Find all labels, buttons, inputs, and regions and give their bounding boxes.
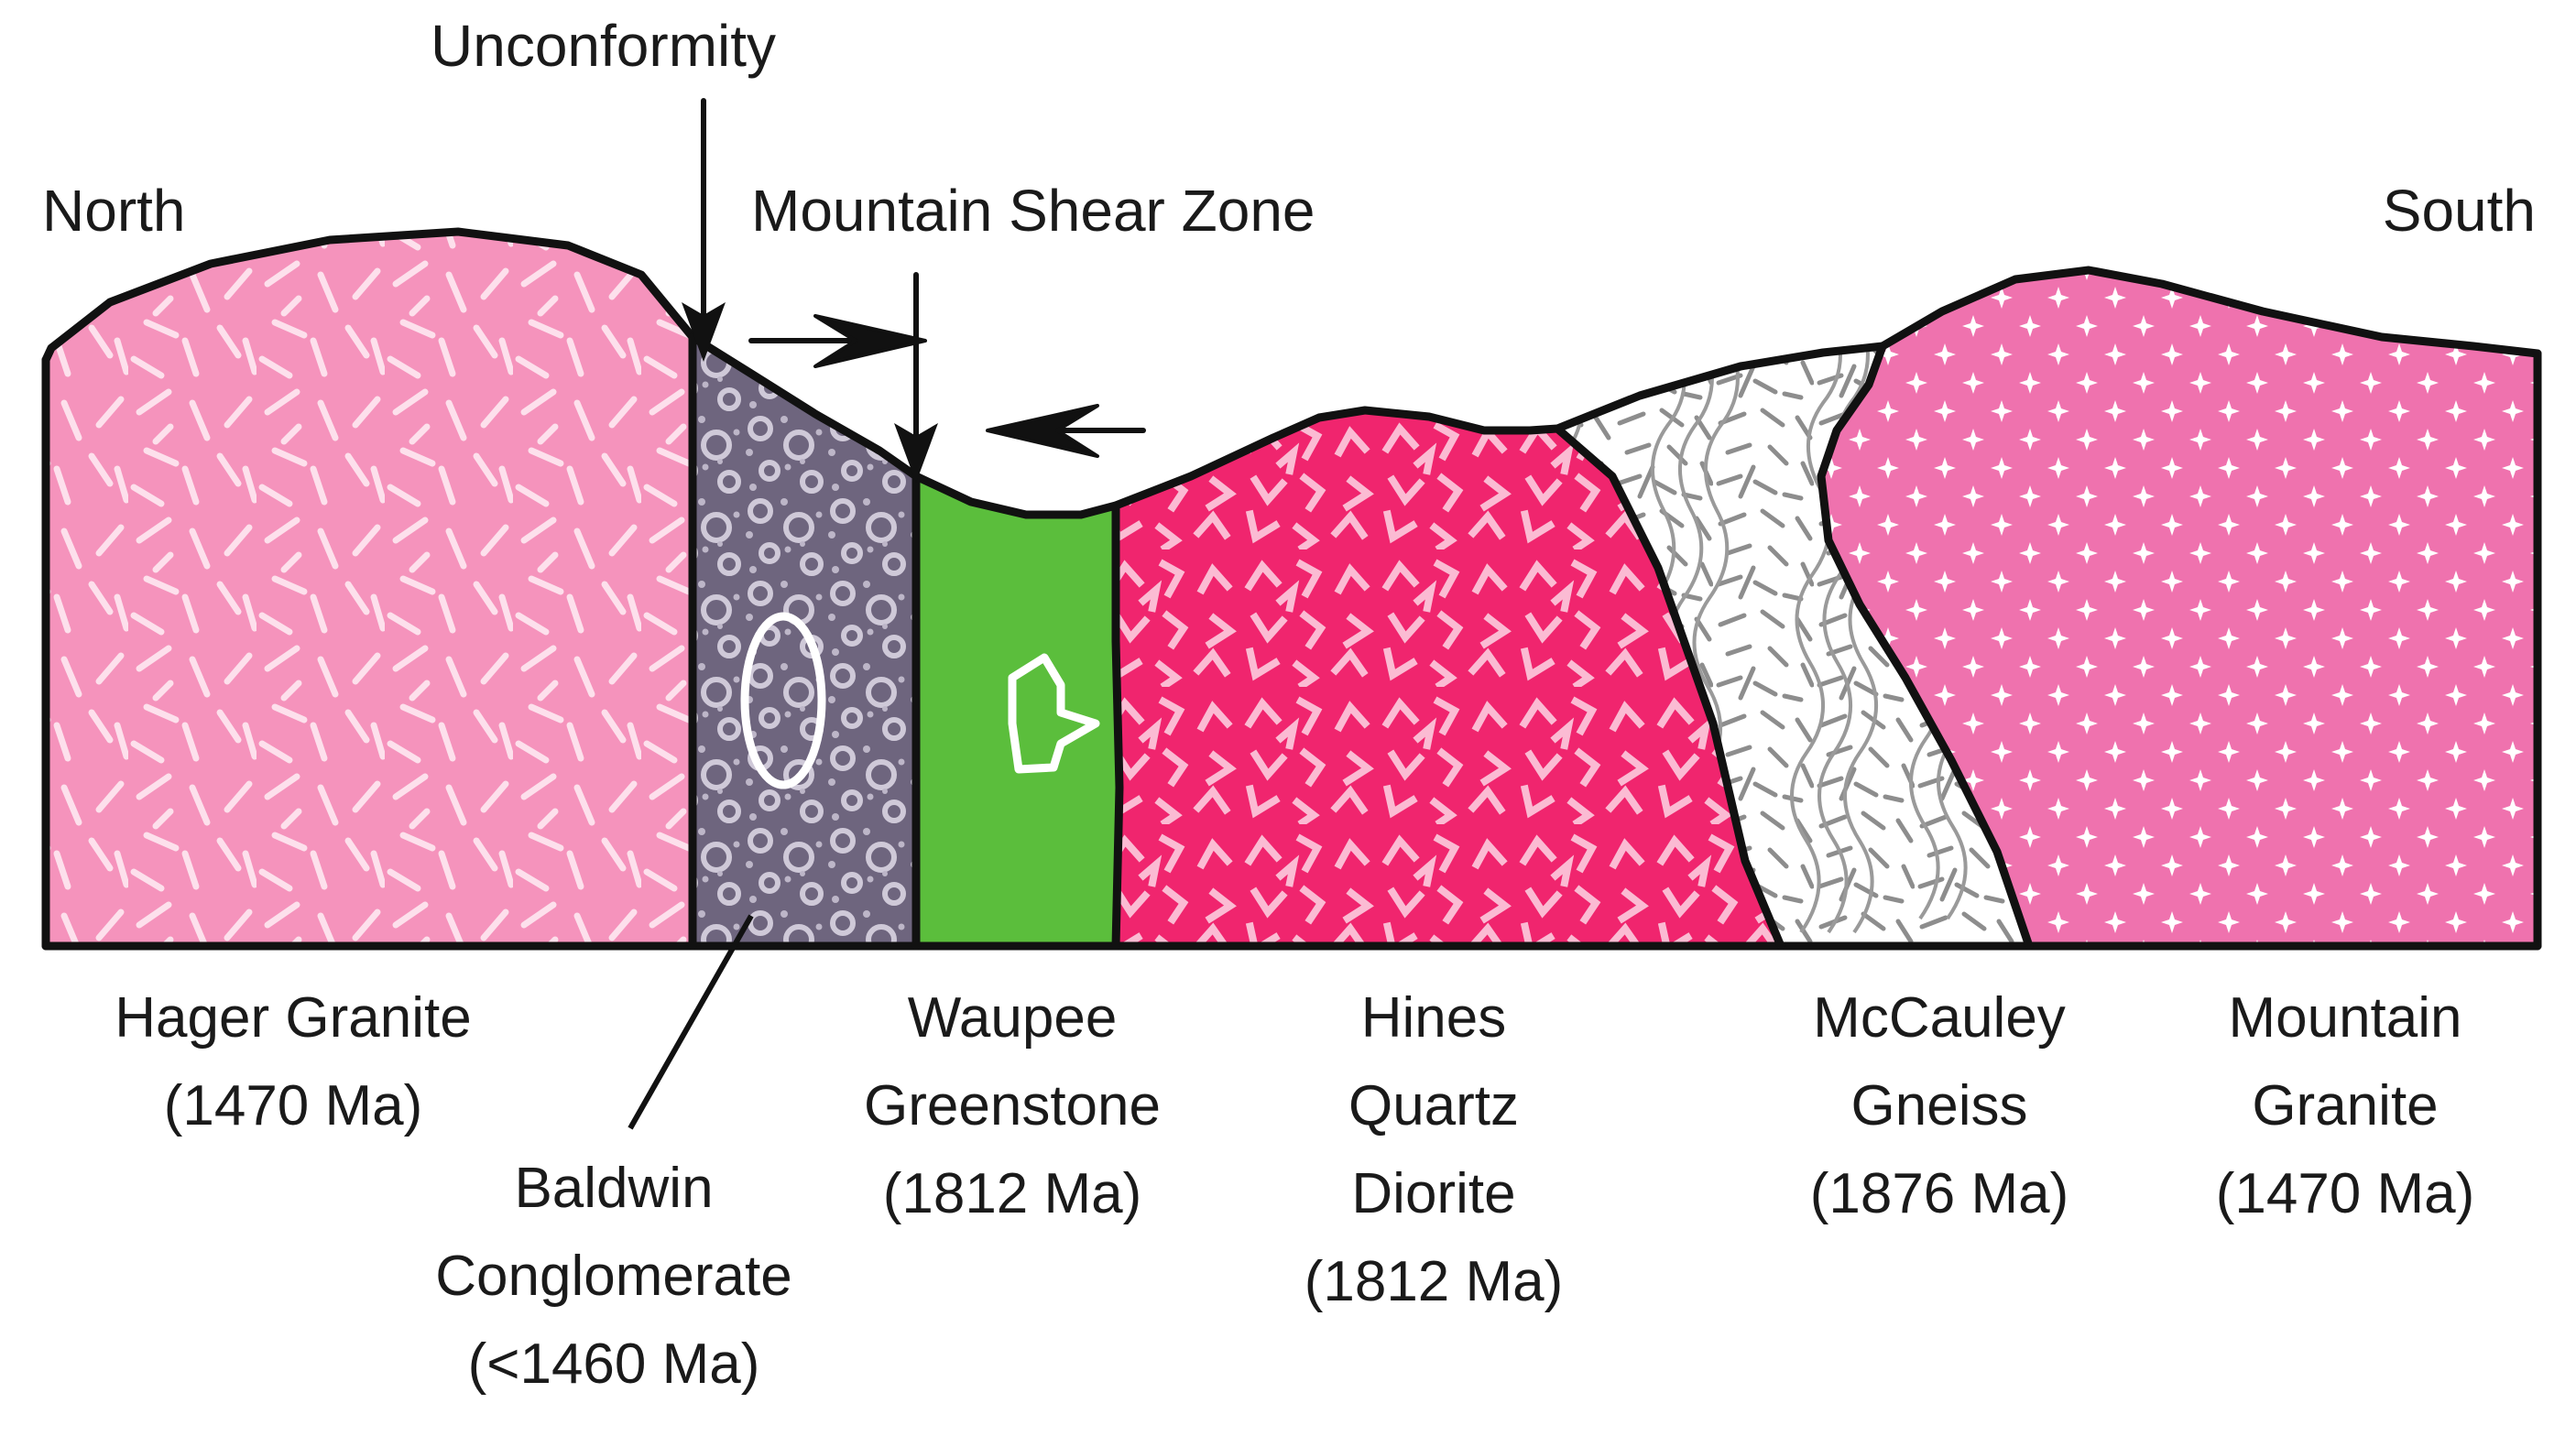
baldwin-age: (<1460 Ma) — [468, 1333, 760, 1396]
label-hines-quartz-diorite: Hines Quartz Diorite (1812 Ma) — [1304, 986, 1564, 1313]
hager-granite-body — [46, 232, 693, 946]
shear-sense-arrow-right — [751, 316, 925, 366]
cross-section-svg: Unconformity Mountain Shear Zone North S… — [0, 0, 2576, 1436]
gneiss-age: (1876 Ma) — [1810, 1162, 2069, 1225]
hines-name-line3: Diorite — [1351, 1162, 1515, 1225]
baldwin-name-line1: Baldwin — [514, 1157, 713, 1220]
label-mountain-granite: Mountain Granite (1470 Ma) — [2216, 986, 2475, 1225]
waupee-name-line1: Waupee — [908, 986, 1118, 1050]
mtgranite-name-line1: Mountain — [2228, 986, 2461, 1050]
baldwin-name-line2: Conglomerate — [435, 1245, 791, 1308]
label-mccauley-gneiss: McCauley Gneiss (1876 Ma) — [1810, 986, 2069, 1225]
mtgranite-age: (1470 Ma) — [2216, 1162, 2475, 1225]
waupee-age: (1812 Ma) — [883, 1162, 1142, 1225]
north-label: North — [42, 178, 186, 244]
hines-age: (1812 Ma) — [1304, 1250, 1564, 1313]
geologic-cross-section-figure: Unconformity Mountain Shear Zone North S… — [0, 0, 2576, 1436]
hager-granite-name: Hager Granite — [115, 986, 471, 1050]
mtgranite-name-line2: Granite — [2252, 1074, 2438, 1137]
label-hager-granite: Hager Granite (1470 Ma) — [115, 986, 471, 1137]
unconformity-label: Unconformity — [431, 13, 776, 79]
hines-name-line2: Quartz — [1348, 1074, 1519, 1137]
unit-waupee-greenstone — [916, 476, 1116, 946]
shear-sense-arrow-left — [988, 406, 1143, 456]
baldwin-conglomerate-body — [693, 337, 916, 946]
waupee-name-line2: Greenstone — [864, 1074, 1161, 1137]
unit-hager-granite — [46, 232, 693, 946]
hager-granite-age: (1470 Ma) — [164, 1074, 423, 1137]
hines-name-line1: Hines — [1361, 986, 1507, 1050]
gneiss-name-line1: McCauley — [1813, 986, 2066, 1050]
label-waupee-greenstone: Waupee Greenstone (1812 Ma) — [864, 986, 1161, 1225]
unit-baldwin-conglomerate — [693, 337, 916, 946]
label-baldwin-conglomerate: Baldwin Conglomerate (<1460 Ma) — [435, 1157, 791, 1396]
contact-waupee-hines — [1116, 506, 1119, 946]
gneiss-name-line2: Gneiss — [1851, 1074, 2028, 1137]
shear-zone-label: Mountain Shear Zone — [751, 178, 1315, 244]
south-label: South — [2383, 178, 2536, 244]
